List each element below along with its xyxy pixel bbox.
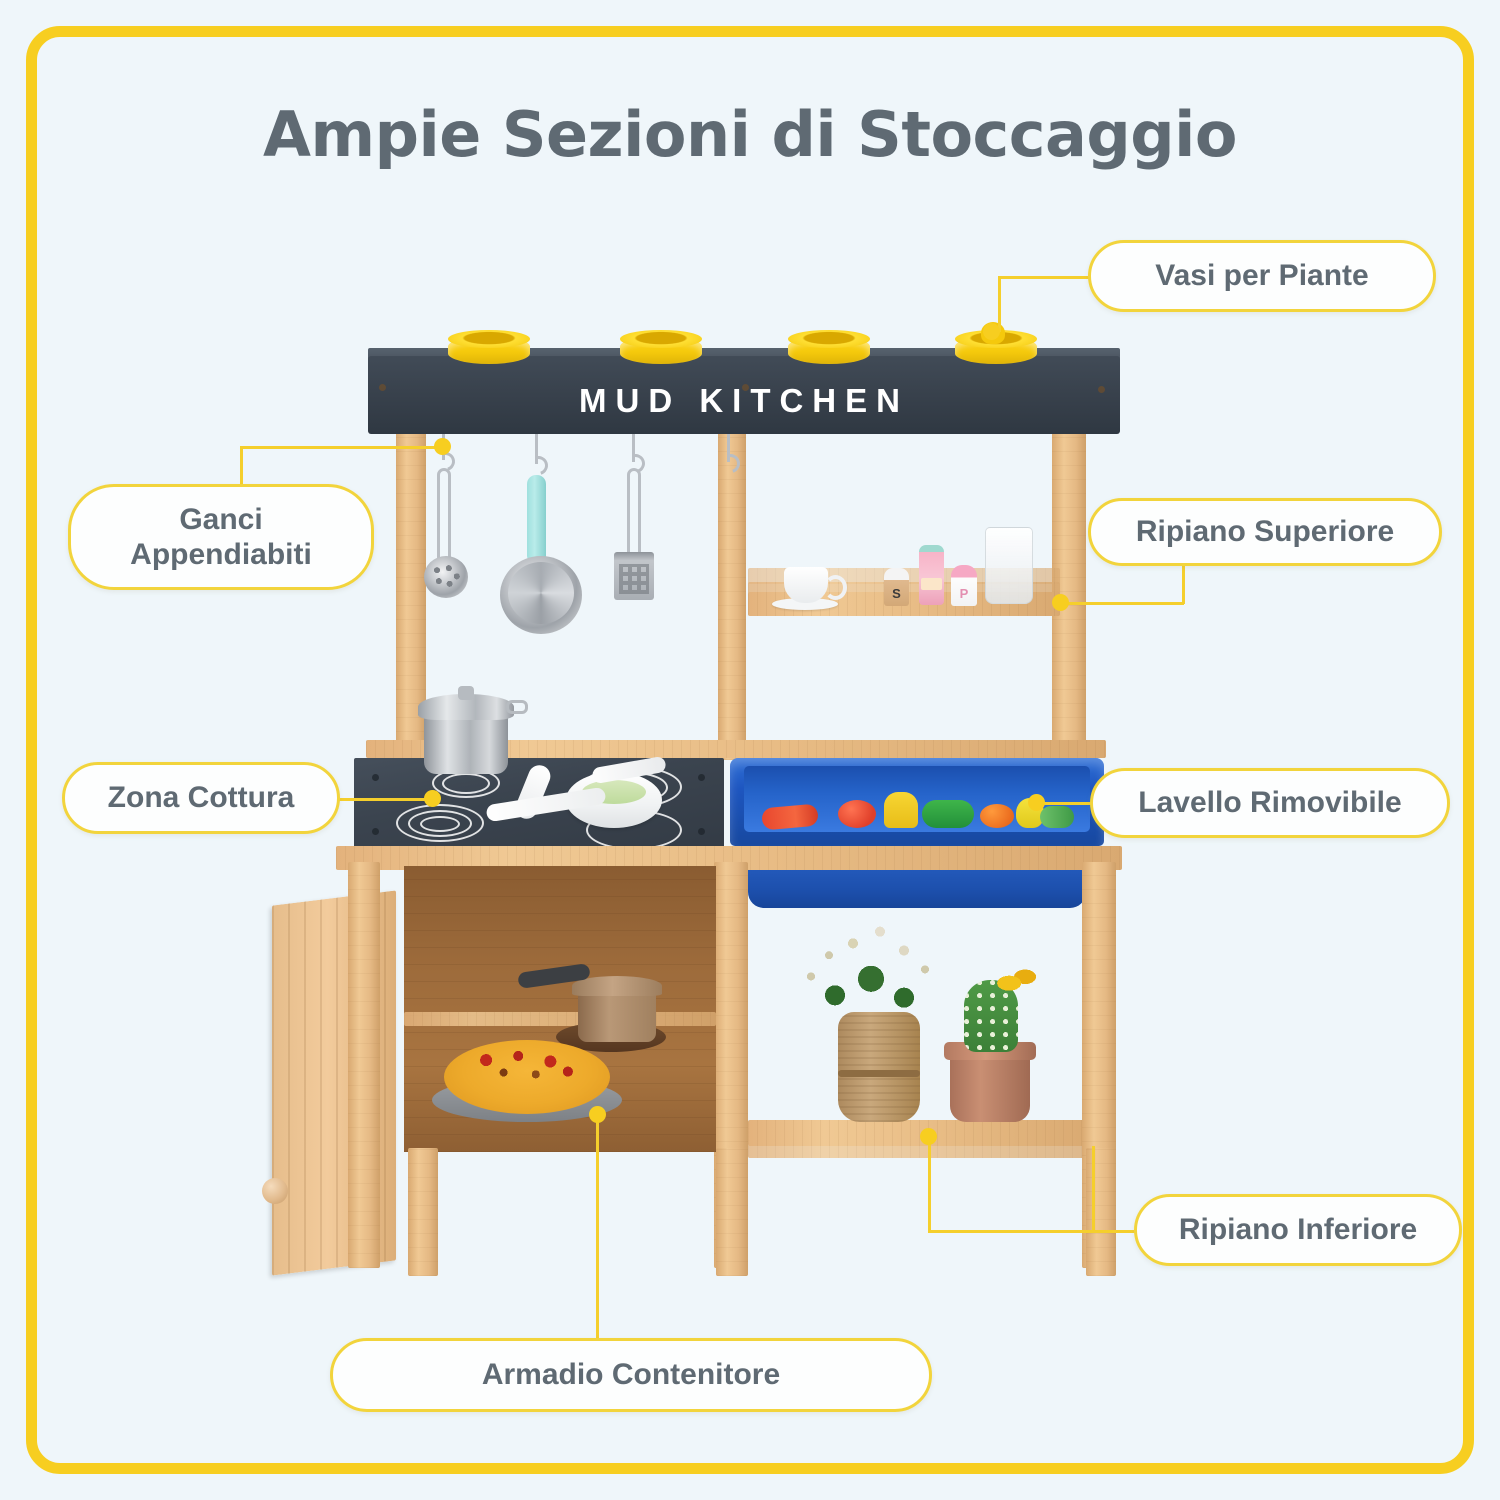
cabinet-mid-shelf bbox=[404, 1012, 716, 1026]
callout-lavello-rimovibile[interactable]: Lavello Rimovibile bbox=[1090, 768, 1450, 838]
callout-vasi-per-piante[interactable]: Vasi per Piante bbox=[1088, 240, 1436, 312]
product-image-mud-kitchen: MUD KITCHEN bbox=[0, 0, 1500, 1500]
frying-pan-inner bbox=[508, 562, 574, 624]
cactus-flower-icon bbox=[996, 964, 1040, 996]
cabinet-door-knob[interactable] bbox=[262, 1178, 288, 1204]
callout-label: Ripiano Inferiore bbox=[1179, 1212, 1417, 1247]
leg-bottom-right bbox=[1086, 1148, 1116, 1276]
burner-ring bbox=[420, 816, 460, 832]
burner-ring bbox=[442, 773, 490, 794]
leader-line-vasi bbox=[998, 276, 1001, 332]
burlap-twine-icon bbox=[838, 1070, 920, 1077]
callout-zona-cottura[interactable]: Zona Cottura bbox=[62, 762, 340, 834]
screw bbox=[372, 828, 379, 835]
leader-line-ripiano-inf2 bbox=[928, 1230, 1094, 1233]
callout-armadio-contenitore[interactable]: Armadio Contenitore bbox=[330, 1338, 932, 1412]
toy-food-lettuce bbox=[1040, 806, 1074, 828]
leg-front-left bbox=[348, 862, 380, 1268]
callout-label: Ripiano Superiore bbox=[1136, 514, 1394, 549]
burlap-pot-icon bbox=[838, 1012, 920, 1122]
lower-shelf-front bbox=[748, 1144, 1094, 1158]
spatula-handle bbox=[627, 468, 641, 560]
leader-line-ripiano-inf bbox=[1092, 1146, 1095, 1232]
leader-dot-vasi bbox=[983, 323, 1000, 340]
callout-label-line2: Appendiabiti bbox=[130, 537, 312, 572]
plant-pot-rim bbox=[448, 330, 530, 348]
leader-line-zona bbox=[336, 798, 432, 801]
leader-line-ripiano-sup bbox=[1182, 562, 1185, 604]
callout-ripiano-inferiore[interactable]: Ripiano Inferiore bbox=[1134, 1194, 1462, 1266]
leader-dot-ripiano-inf bbox=[920, 1128, 937, 1145]
skimmer-handle bbox=[437, 468, 451, 564]
flowering-plant-foliage-icon bbox=[796, 908, 946, 1026]
frying-pan-handle bbox=[527, 475, 546, 561]
upright-back-mid bbox=[718, 430, 746, 760]
sign-board-label: MUD KITCHEN bbox=[368, 382, 1120, 420]
leg-bottom-mid bbox=[716, 1148, 748, 1276]
callout-ripiano-superiore[interactable]: Ripiano Superiore bbox=[1088, 498, 1442, 566]
infographic-page: Ampie Sezioni di Stoccaggio MUD KITCHEN bbox=[0, 0, 1500, 1500]
leader-dot-armadio bbox=[589, 1106, 606, 1123]
callout-label: Zona Cottura bbox=[108, 780, 295, 815]
callout-label: Armadio Contenitore bbox=[482, 1357, 780, 1392]
leader-dot-ganci bbox=[434, 438, 451, 455]
leader-dot-ripiano-sup bbox=[1052, 594, 1069, 611]
leader-line-lavello bbox=[1036, 802, 1098, 805]
callout-label: Vasi per Piante bbox=[1155, 258, 1368, 293]
leader-line-ripiano-inf bbox=[1092, 1230, 1140, 1233]
screw bbox=[372, 774, 379, 781]
callout-label-line1: Ganci bbox=[179, 502, 262, 537]
leader-line-ganci bbox=[240, 446, 444, 449]
plant-pot-rim bbox=[788, 330, 870, 348]
skimmer-holes bbox=[428, 560, 464, 594]
salt-shaker-label: S bbox=[884, 586, 909, 601]
steel-pot-icon bbox=[424, 712, 508, 774]
toy-food-tomato bbox=[838, 800, 876, 828]
leg-bottom-left bbox=[408, 1148, 438, 1276]
steel-pot-knob-icon bbox=[458, 686, 474, 700]
leader-line-ripiano-inf2 bbox=[928, 1136, 931, 1232]
teacup-handle-icon bbox=[824, 575, 847, 600]
frosted-cup-icon bbox=[985, 527, 1033, 604]
spatula-slots bbox=[619, 564, 649, 594]
pizza-toppings-icon bbox=[454, 1044, 600, 1090]
leader-line-armadio bbox=[596, 1116, 599, 1340]
callout-label: Lavello Rimovibile bbox=[1138, 785, 1401, 820]
brown-pot-icon bbox=[578, 988, 656, 1042]
leader-dot-zona bbox=[424, 790, 441, 807]
teacup-icon bbox=[784, 567, 828, 603]
pink-bottle-label bbox=[921, 578, 942, 590]
steel-pot-handle-icon bbox=[506, 700, 528, 714]
pink-bottle-icon bbox=[919, 545, 944, 605]
toy-food-corn bbox=[884, 792, 918, 828]
plant-pot-rim bbox=[620, 330, 702, 348]
callout-ganci-appendiabiti[interactable]: Ganci Appendiabiti bbox=[68, 484, 374, 590]
pepper-shaker-label: P bbox=[951, 586, 977, 601]
leader-line-ripiano-sup bbox=[1062, 602, 1184, 605]
leader-line-vasi bbox=[998, 276, 1090, 279]
leader-dot-lavello bbox=[1028, 794, 1045, 811]
screw bbox=[698, 774, 705, 781]
toy-food-orange bbox=[980, 804, 1014, 828]
toy-food-pepper-green bbox=[922, 800, 974, 828]
screw bbox=[698, 828, 705, 835]
